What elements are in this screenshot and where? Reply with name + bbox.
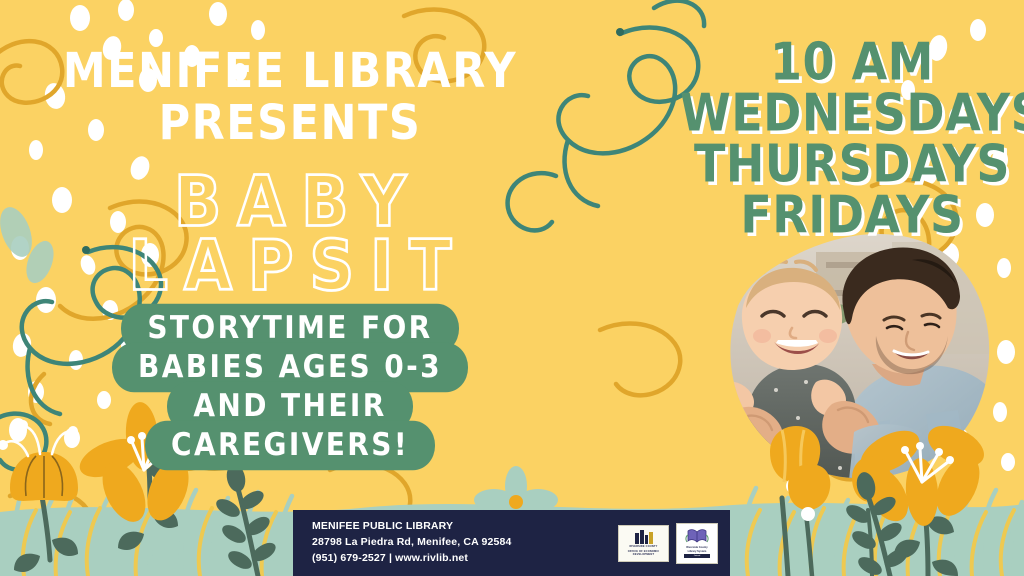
schedule-day-fridays: Fridays — [680, 189, 1024, 241]
oed-logo-line1: RIVERSIDE COUNTY — [629, 545, 657, 549]
headline-line-library: Menifee Library — [0, 48, 580, 95]
footer-address: 28798 La Piedra Rd, Menifee, CA 92584 — [312, 535, 618, 551]
footer-contact[interactable]: (951) 679-2527 | www.rivlib.net — [312, 551, 618, 567]
description-badge: Storytime for Babies Ages 0-3 and their … — [0, 306, 580, 468]
schedule-block: 10 AM Wednesdays Thursdays Fridays — [680, 36, 1024, 235]
oed-logo-line2: OFFICE OF ECONOMIC DEVELOPMENT — [621, 550, 666, 557]
library-logo-line2: Library System — [688, 550, 707, 554]
title-line-lapsit: Lapsit — [0, 230, 580, 302]
schedule-day-thursdays: Thursdays — [680, 138, 1024, 190]
riverside-county-library-system-logo: Riverside County Library System Joined — [676, 523, 718, 564]
buildings-icon — [634, 529, 654, 544]
schedule-time: 10 AM — [680, 36, 1024, 88]
schedule-day-wednesdays: Wednesdays — [680, 87, 1024, 139]
library-logo-badge: Joined — [684, 554, 710, 558]
headline-block: Menifee Library Presents — [0, 48, 580, 142]
riverside-county-oed-logo: RIVERSIDE COUNTY OFFICE OF ECONOMIC DEVE… — [618, 525, 669, 562]
leaf-branch-left — [213, 462, 278, 576]
footer-org-name: MENIFEE PUBLIC LIBRARY — [312, 519, 618, 535]
footer-bar: MENIFEE PUBLIC LIBRARY 28798 La Piedra R… — [293, 510, 730, 576]
footer-logos: RIVERSIDE COUNTY OFFICE OF ECONOMIC DEVE… — [618, 523, 730, 564]
photo-father-and-baby — [676, 232, 1006, 490]
poster-canvas: Menifee Library Presents Baby Lapsit Sto… — [0, 0, 1024, 576]
program-title: Baby Lapsit — [0, 166, 580, 294]
badge-line-4: Caregivers! — [145, 421, 435, 471]
footer-contact-block: MENIFEE PUBLIC LIBRARY 28798 La Piedra R… — [312, 519, 618, 567]
library-logo-line1: Riverside County — [686, 546, 707, 550]
open-book-icon — [685, 528, 709, 545]
headline-line-presents: Presents — [0, 100, 580, 147]
